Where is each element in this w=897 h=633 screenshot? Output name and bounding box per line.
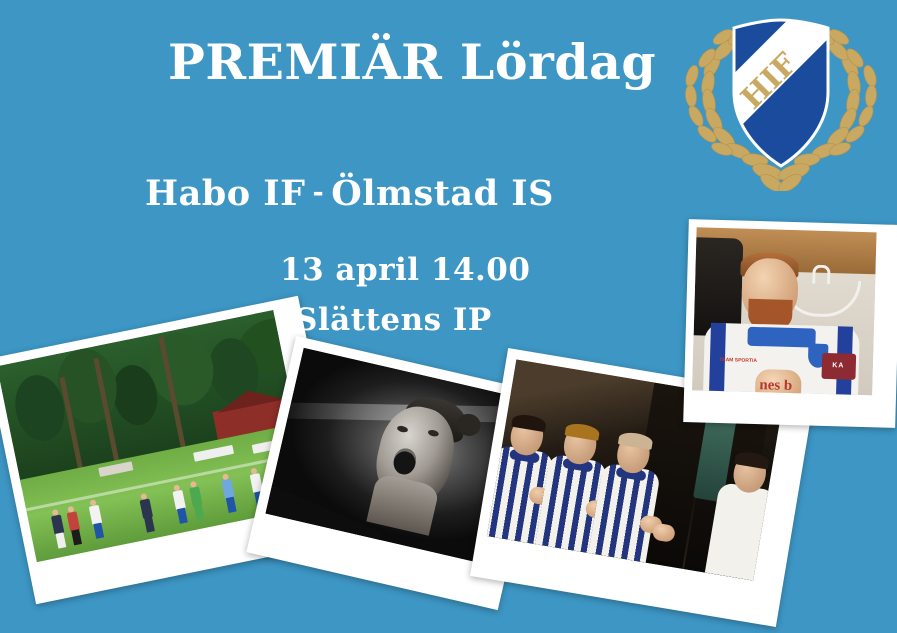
photo-captain-image: TEAM SPORTIA KA nes b [692, 227, 876, 395]
match-poster: PREMIÄR Lördag Habo IF-Ölmstad IS 13 apr… [0, 0, 897, 633]
matchup-separator: - [305, 177, 331, 208]
club-crest-icon: HIF [676, 6, 886, 191]
jersey-brand-text: TEAM SPORTIA [719, 357, 757, 364]
jersey-sponsor-text: nes b [728, 378, 824, 393]
match-datetime: 13 april 14.00 [280, 255, 530, 286]
match-venue: Slättens IP [295, 305, 492, 336]
captain-armband: KA [821, 352, 856, 379]
matchup-line: Habo IF-Ölmstad IS [145, 176, 554, 211]
home-team-label: Habo IF [145, 173, 305, 214]
photo-captain-portrait: TEAM SPORTIA KA nes b [683, 219, 897, 428]
page-title: PREMIÄR Lördag [168, 38, 656, 87]
away-team-label: Ölmstad IS [331, 173, 554, 214]
